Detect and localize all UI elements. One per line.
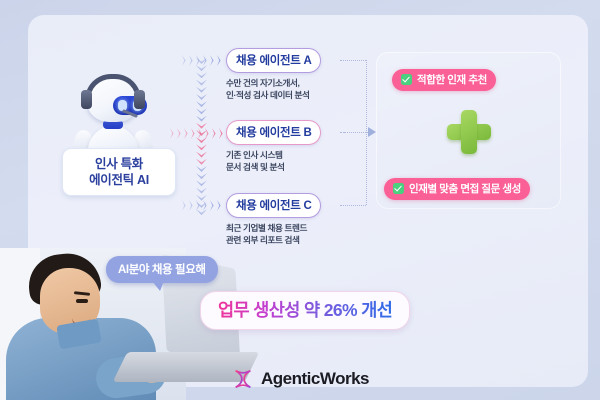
infographic-canvas: 인사 특화 에이전틱 AI 채용 에이전트 A 수만 건의 자기소개서, 인·적… <box>0 0 600 400</box>
agent-c-title: 채용 에이전트 C <box>226 193 321 218</box>
robot-label-card: 인사 특화 에이전틱 AI <box>62 148 176 196</box>
agent-c-description: 최근 기업별 채용 트렌드 관련 외부 리포트 검색 <box>226 223 346 246</box>
result-pill-recommendation-label: 적합한 인재 추천 <box>417 72 487 87</box>
chevron-down-icon <box>196 65 207 71</box>
robot-label-line1: 인사 특화 <box>67 156 171 172</box>
chevron-right-icon <box>217 55 223 66</box>
chevron-branch-a <box>182 55 223 66</box>
agent-c-desc-line2: 관련 외부 리포트 검색 <box>226 235 346 247</box>
connector-to-results <box>344 132 370 133</box>
chevron-right-icon <box>177 128 183 139</box>
chevron-down-icon <box>196 80 207 86</box>
chevron-down-icon <box>196 180 207 186</box>
chevron-down-icon <box>196 87 207 93</box>
result-pill-interview-questions[interactable]: 인재별 맞춤 면접 질문 생성 <box>384 178 530 200</box>
green-plus-icon <box>447 110 491 154</box>
speech-bubble: AI분야 채용 필요해 <box>106 256 218 283</box>
agent-b-desc-line2: 문서 검색 및 분석 <box>226 162 346 174</box>
robot-label-line2: 에이전틱 AI <box>67 172 171 188</box>
chevron-right-icon <box>219 128 225 139</box>
chevron-right-icon <box>212 128 218 139</box>
chevron-down-icon <box>196 101 207 107</box>
agent-card-c[interactable]: 채용 에이전트 C 최근 기업별 채용 트렌드 관련 외부 리포트 검색 <box>226 193 346 246</box>
check-icon <box>401 74 412 85</box>
chevron-down-icon <box>196 188 207 194</box>
plus-bar-vertical <box>461 110 477 154</box>
chevron-right-icon <box>210 55 216 66</box>
chevron-down-icon <box>196 94 207 100</box>
chevron-down-icon <box>196 166 207 172</box>
chevron-right-icon <box>170 128 176 139</box>
chevron-down-icon <box>196 144 207 150</box>
agent-b-description: 기존 인사 시스템 문서 검색 및 분석 <box>226 150 346 173</box>
chevron-right-icon <box>198 128 204 139</box>
chevron-right-icon <box>205 128 211 139</box>
chevron-right-icon <box>203 200 209 211</box>
chevron-down-icon <box>196 72 207 78</box>
chevron-branch-b <box>170 128 232 139</box>
agent-card-a[interactable]: 채용 에이전트 A 수만 건의 자기소개서, 인·적성 검사 데이터 분석 <box>226 48 346 101</box>
chevron-down-icon <box>196 152 207 158</box>
agent-a-description: 수만 건의 자기소개서, 인·적성 검사 데이터 분석 <box>226 78 346 101</box>
check-icon <box>393 183 404 194</box>
chevron-right-icon <box>189 200 195 211</box>
agent-a-title: 채용 에이전트 A <box>226 48 321 73</box>
agent-c-desc-line1: 최근 기업별 채용 트렌드 <box>226 223 346 235</box>
agent-card-b[interactable]: 채용 에이전트 B 기존 인사 시스템 문서 검색 및 분석 <box>226 120 346 173</box>
connector-a-horizontal <box>340 60 366 61</box>
chevron-down-icon <box>196 108 207 114</box>
chevron-right-icon <box>203 55 209 66</box>
connector-c-horizontal <box>340 205 366 206</box>
chevron-down-icon <box>196 116 207 122</box>
chevron-right-icon <box>184 128 190 139</box>
result-pill-interview-label: 인재별 맞춤 면접 질문 생성 <box>409 181 521 196</box>
chevron-down-icon <box>196 173 207 179</box>
agenticworks-lattice-logo <box>232 368 254 390</box>
brand-name: AgenticWorks <box>261 369 369 389</box>
agent-b-title: 채용 에이전트 B <box>226 120 321 145</box>
robot-earcup-left <box>81 90 92 109</box>
kpi-banner: 업무 생산성 약 26% 개선 <box>200 291 410 330</box>
agent-a-desc-line1: 수만 건의 자기소개서, <box>226 78 346 90</box>
result-pill-recommendation[interactable]: 적합한 인재 추천 <box>392 69 496 91</box>
chevron-right-icon <box>182 55 188 66</box>
kpi-text: 업무 생산성 약 26% 개선 <box>218 300 392 320</box>
speech-bubble-text: AI분야 채용 필요해 <box>118 264 206 276</box>
robot-earcup-right <box>134 90 145 109</box>
chevron-down-icon <box>196 159 207 165</box>
robot-headband <box>85 74 141 100</box>
chevron-right-icon <box>217 200 223 211</box>
results-panel: 적합한 인재 추천 인재별 맞춤 면접 질문 생성 <box>376 52 561 209</box>
photo-person-eye <box>76 299 88 303</box>
chevron-right-icon <box>182 200 188 211</box>
connector-arrowhead-icon <box>368 127 376 137</box>
brand-lockup: AgenticWorks <box>232 368 369 390</box>
chevron-branch-c <box>182 200 223 211</box>
chevron-right-icon <box>189 55 195 66</box>
chevron-right-icon <box>196 200 202 211</box>
chevron-right-icon <box>210 200 216 211</box>
agent-a-desc-line2: 인·적성 검사 데이터 분석 <box>226 90 346 102</box>
chevron-right-icon <box>196 55 202 66</box>
agent-b-desc-line1: 기존 인사 시스템 <box>226 150 346 162</box>
chevron-right-icon <box>191 128 197 139</box>
